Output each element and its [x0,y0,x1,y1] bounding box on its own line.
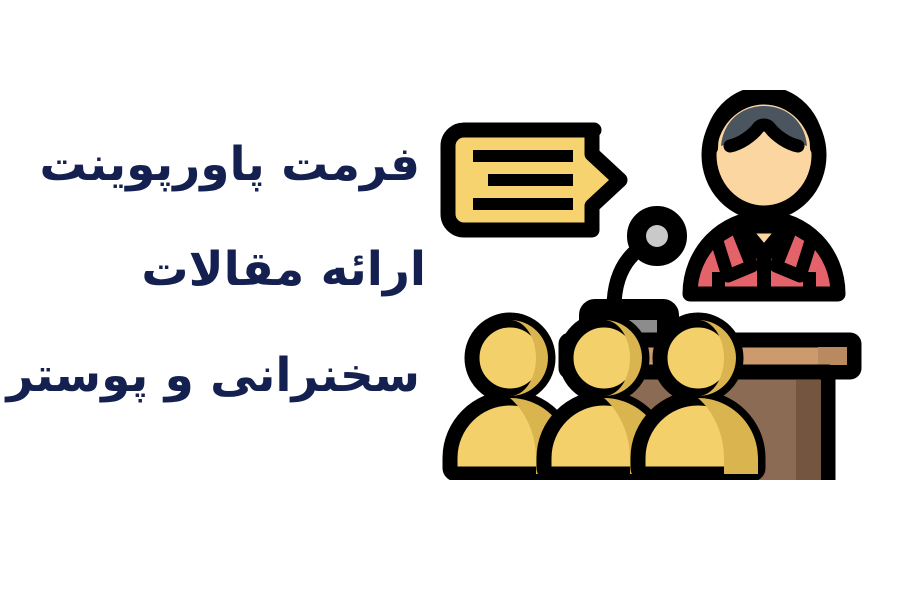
bubble-line-1 [473,150,573,162]
audience-group [450,320,758,474]
bubble-line-3 [473,198,573,210]
speaker-figure [686,93,842,300]
bubble-line-2 [488,174,573,186]
conference-speaker-illustration [440,90,880,480]
headline-line-1: فرمت پاورپوینت [20,140,420,189]
headline-text-block: فرمت پاورپوینت ارائه مقالات سخنرانی و پو… [20,140,420,400]
headline-line-3: سخنرانی و پوستر [20,351,420,400]
headline-line-2: ارائه مقالات [20,245,426,294]
illustration-svg [440,90,880,480]
microphone-head [646,225,668,247]
speech-bubble-icon [448,130,620,230]
banner-canvas: فرمت پاورپوینت ارائه مقالات سخنرانی و پو… [0,0,900,600]
